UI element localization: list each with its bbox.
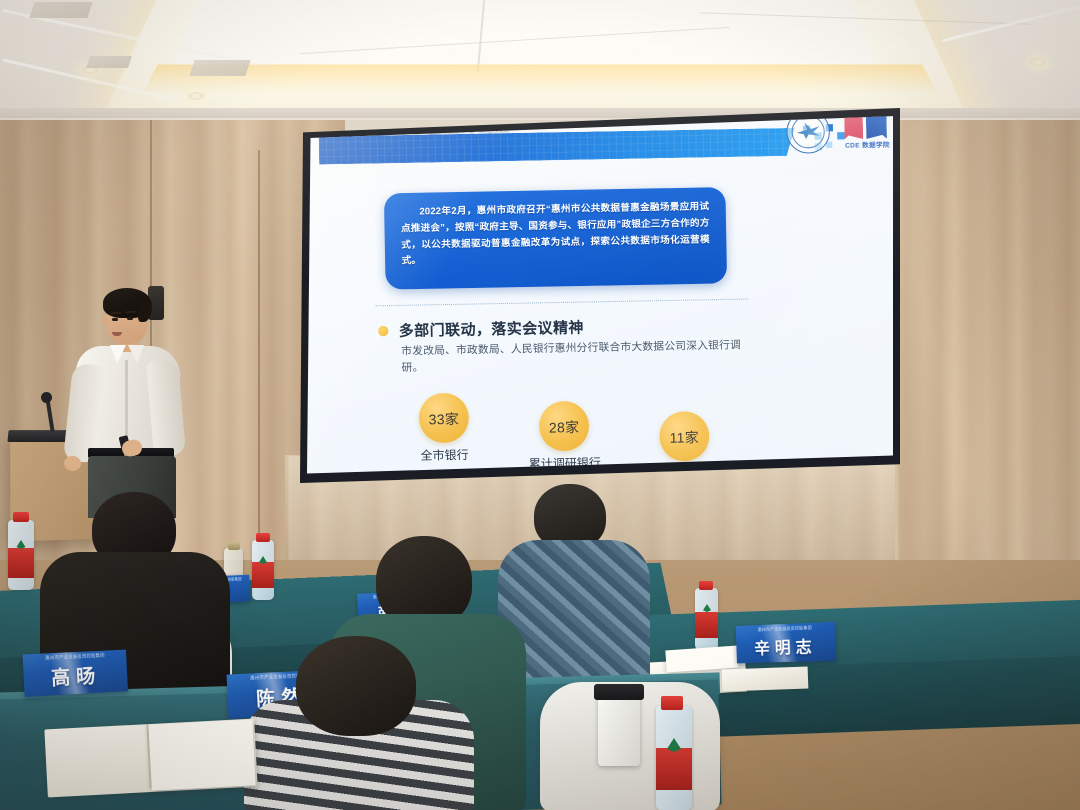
coffee-cup-lid[interactable] — [594, 684, 644, 700]
name-plate-name: 高旸 — [23, 650, 128, 697]
coffee-cup[interactable] — [598, 690, 640, 766]
stat-circle: 11家 — [659, 411, 710, 462]
name-plate: 惠州市产业发展投资控股集团 辛明志 — [736, 622, 836, 663]
presenter-eye — [112, 318, 118, 321]
notebook-right-page — [148, 719, 255, 790]
slide-callout-text: 2022年2月，惠州市政府召开“惠州市公共数据普惠金融场景应用试点推进会”，按照… — [401, 199, 711, 270]
institution-seal-logo — [786, 115, 830, 154]
bottle-cap[interactable] — [13, 512, 29, 522]
stat-item: 33家 全市银行 — [383, 392, 505, 475]
ceiling-downlight — [1030, 58, 1046, 66]
bottle-cap[interactable] — [256, 533, 270, 542]
stat-circle: 28家 — [539, 401, 590, 452]
cde-academy-logo: CDE 数据学院 — [842, 115, 890, 152]
person-head — [296, 636, 416, 736]
slide-bullet-heading: 多部门联动，落实会议精神 — [399, 316, 584, 341]
bottle-label — [695, 612, 718, 638]
slide-callout-box: 2022年2月，惠州市政府召开“惠州市公共数据普惠金融场景应用试点推进会”，按照… — [384, 187, 727, 289]
ceiling-light-panel — [172, 0, 878, 71]
presenter — [62, 288, 190, 513]
slide-divider — [376, 298, 749, 306]
notebook[interactable] — [722, 667, 809, 692]
ceiling — [0, 0, 1080, 125]
ceiling-air-vent — [189, 60, 250, 76]
stat-item: 28家 累计调研银行 — [503, 390, 625, 475]
presenter-eye — [127, 317, 133, 320]
bottle-label — [656, 748, 692, 790]
conference-room-scene: 公共数据在普惠金融的试点 C — [0, 0, 1080, 810]
wall-door-seam — [258, 150, 260, 590]
seal-star-icon — [797, 122, 820, 139]
bottle-label — [252, 562, 274, 588]
bullet-dot-icon — [378, 325, 389, 336]
book-right-icon — [866, 115, 887, 139]
projection-screen: 公共数据在普惠金融的试点 C — [307, 115, 893, 475]
name-plate: 惠州市产业发展投资控股集团 高旸 — [23, 650, 128, 697]
bottle-cap[interactable] — [661, 696, 683, 710]
bottle-label — [8, 548, 34, 578]
presenter-hand-right — [64, 456, 81, 471]
ceiling-downlight — [188, 92, 204, 100]
bottle-cap[interactable] — [699, 581, 713, 590]
podium-microphone-head — [41, 392, 52, 403]
slide-logos: CDE 数据学院 — [786, 115, 890, 154]
presenter-hair-side — [138, 296, 152, 322]
book-left-icon — [844, 115, 863, 139]
ceiling-air-vent — [86, 56, 132, 68]
stat-label: 全市银行 — [384, 448, 504, 466]
ceiling-cove-glow — [142, 64, 938, 94]
slide-bullet: 多部门联动，落实会议精神 — [378, 316, 584, 342]
ceiling-air-vent — [29, 2, 92, 18]
name-plate-name: 辛明志 — [736, 622, 836, 663]
stat-circle: 33家 — [419, 393, 470, 444]
slide-content: 公共数据在普惠金融的试点 C — [307, 115, 893, 475]
presenter-ear — [102, 315, 109, 326]
bottle-cap[interactable] — [228, 542, 240, 550]
slide-bullet-subtext: 市发改局、市政数局、人民银行惠州分行联合市大数据公司深入银行调研。 — [401, 338, 743, 377]
cde-logo-caption: CDE 数据学院 — [844, 140, 892, 150]
